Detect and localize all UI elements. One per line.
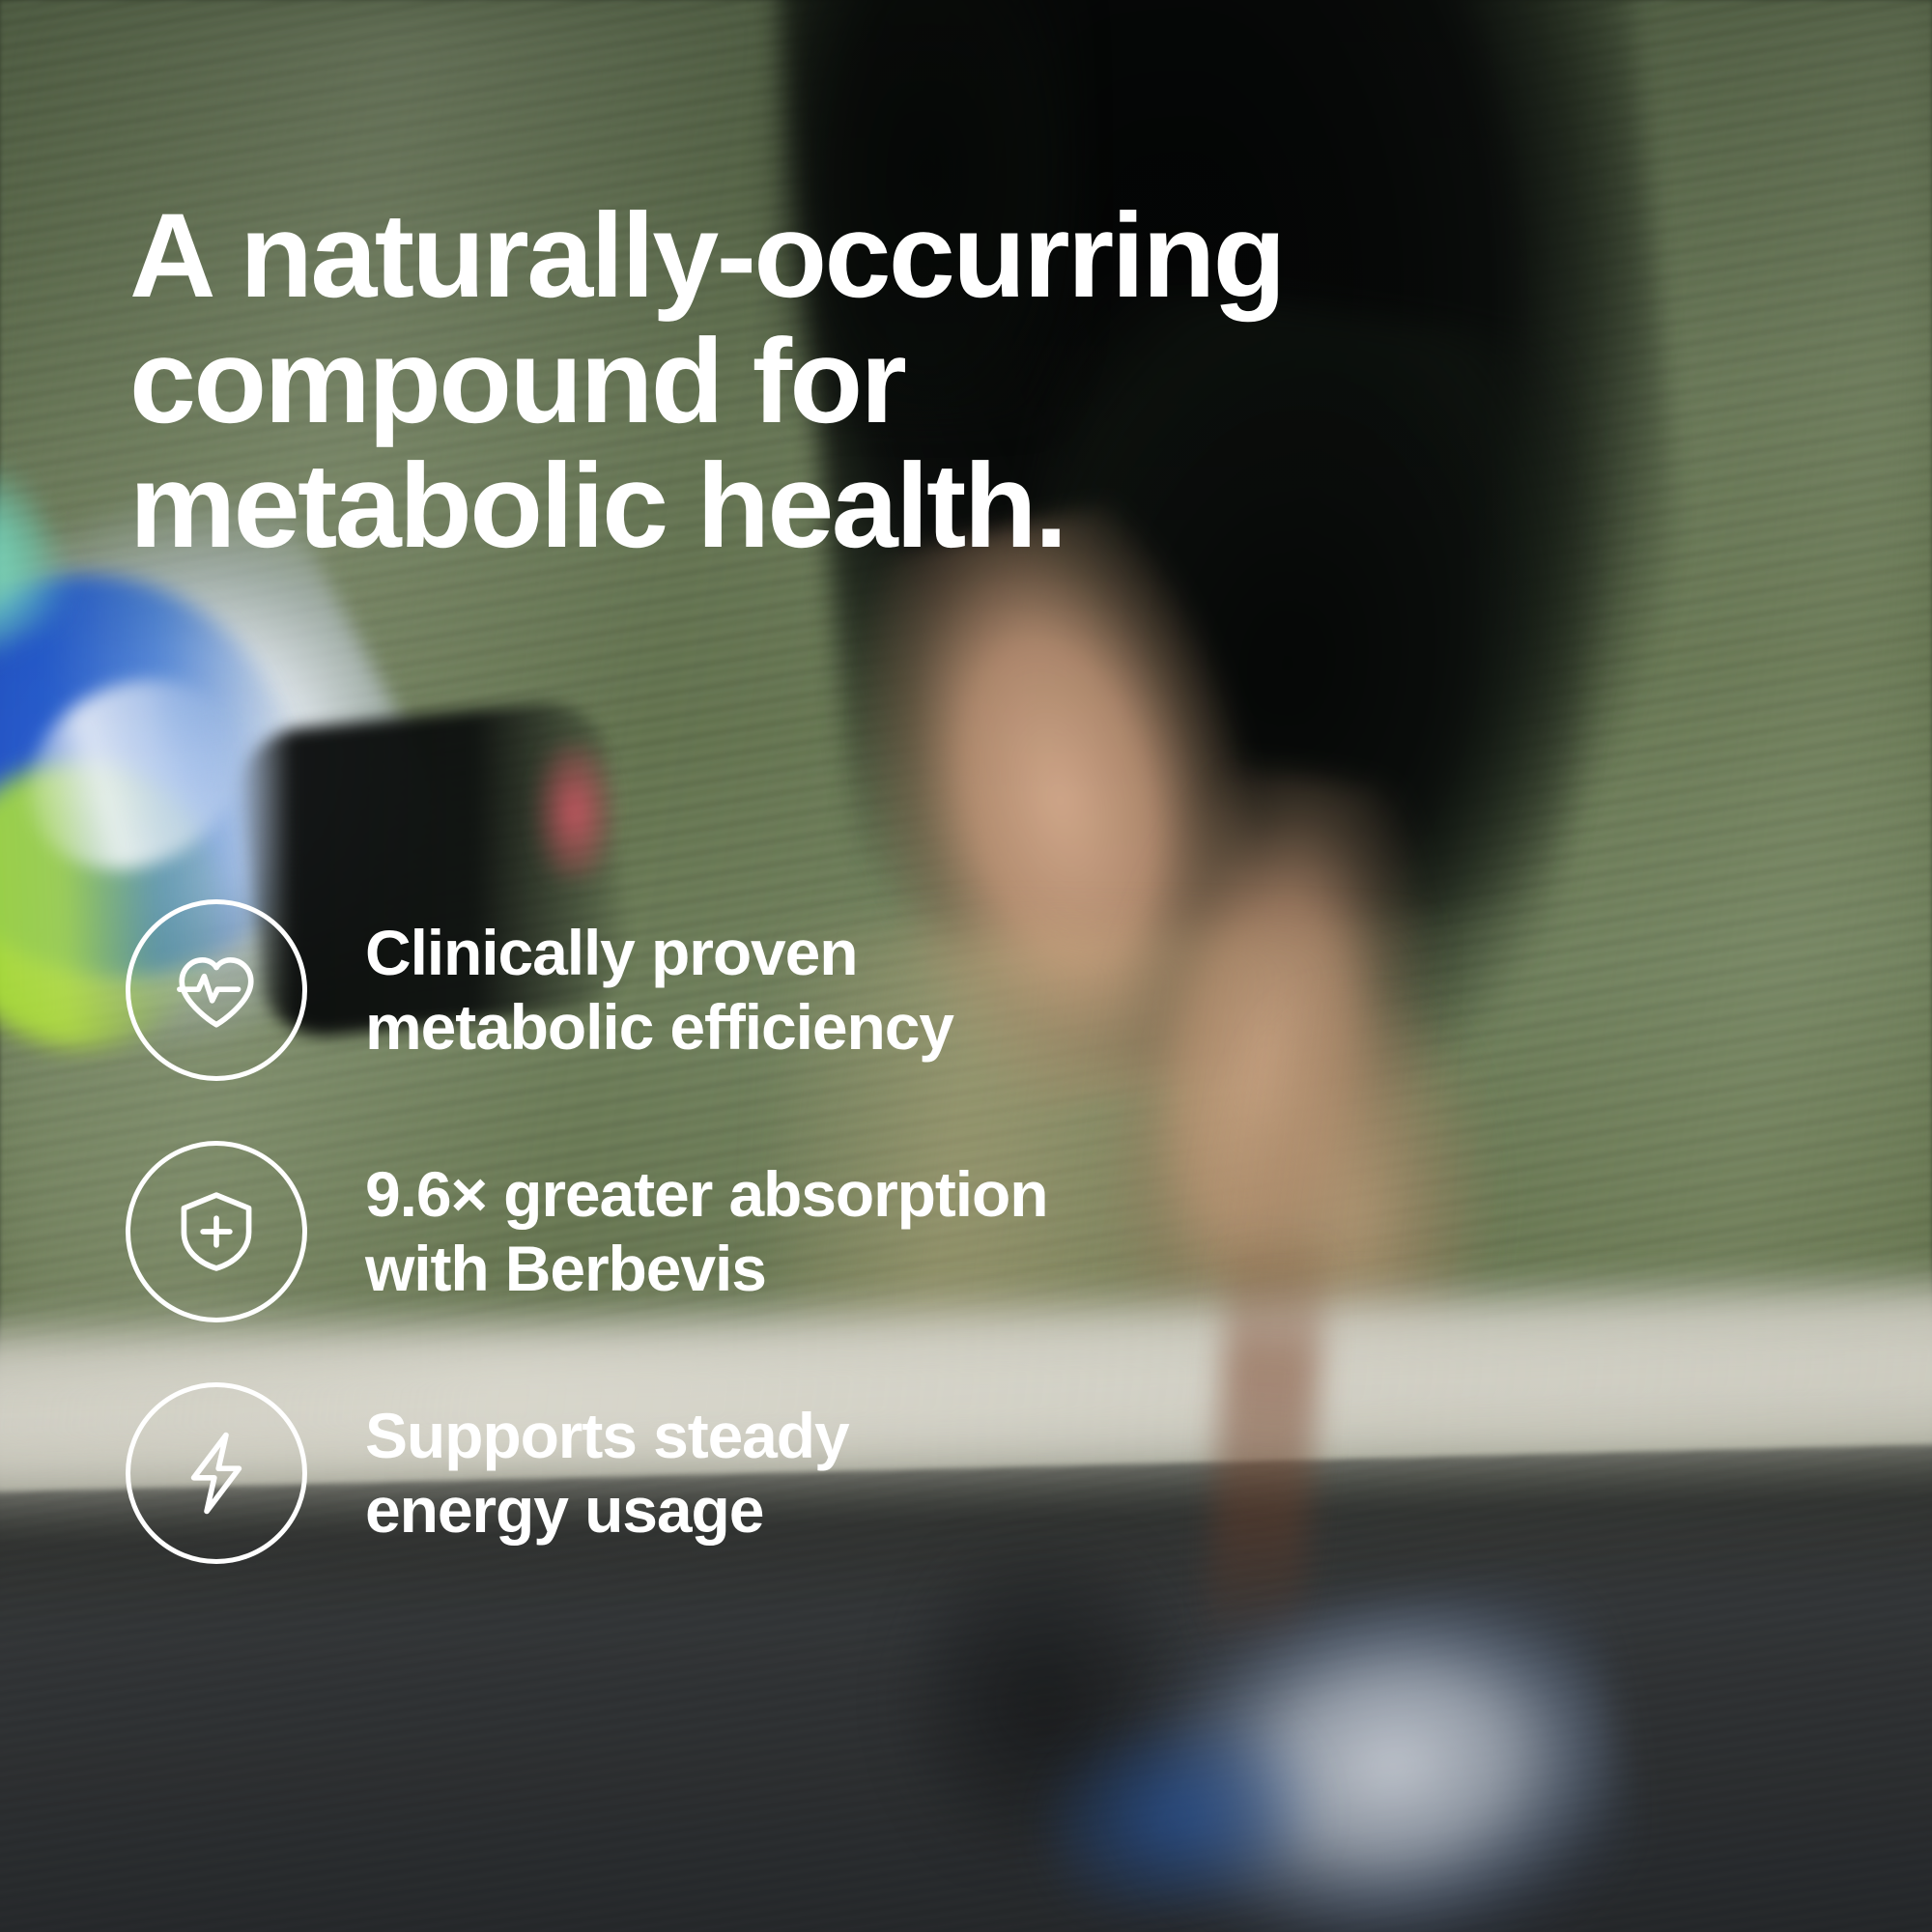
feature-label: 9.6× greater absorption with Berbevis xyxy=(365,1157,1047,1306)
lightning-bolt-icon xyxy=(126,1382,307,1564)
feature-list: Clinically proven metabolic efficiency 9… xyxy=(126,869,1459,1594)
feature-item-clinically-proven: Clinically proven metabolic efficiency xyxy=(126,869,1459,1111)
poster-content: A naturally-occurring compound for metab… xyxy=(0,0,1932,1932)
poster-canvas: A naturally-occurring compound for metab… xyxy=(0,0,1932,1932)
feature-label: Supports steady energy usage xyxy=(365,1399,849,1548)
feature-item-greater-absorption: 9.6× greater absorption with Berbevis xyxy=(126,1111,1459,1352)
feature-item-steady-energy: Supports steady energy usage xyxy=(126,1352,1459,1594)
heart-pulse-icon xyxy=(126,899,307,1081)
page-title: A naturally-occurring compound for metab… xyxy=(129,194,1559,570)
shield-plus-icon xyxy=(126,1141,307,1322)
feature-label: Clinically proven metabolic efficiency xyxy=(365,916,953,1065)
